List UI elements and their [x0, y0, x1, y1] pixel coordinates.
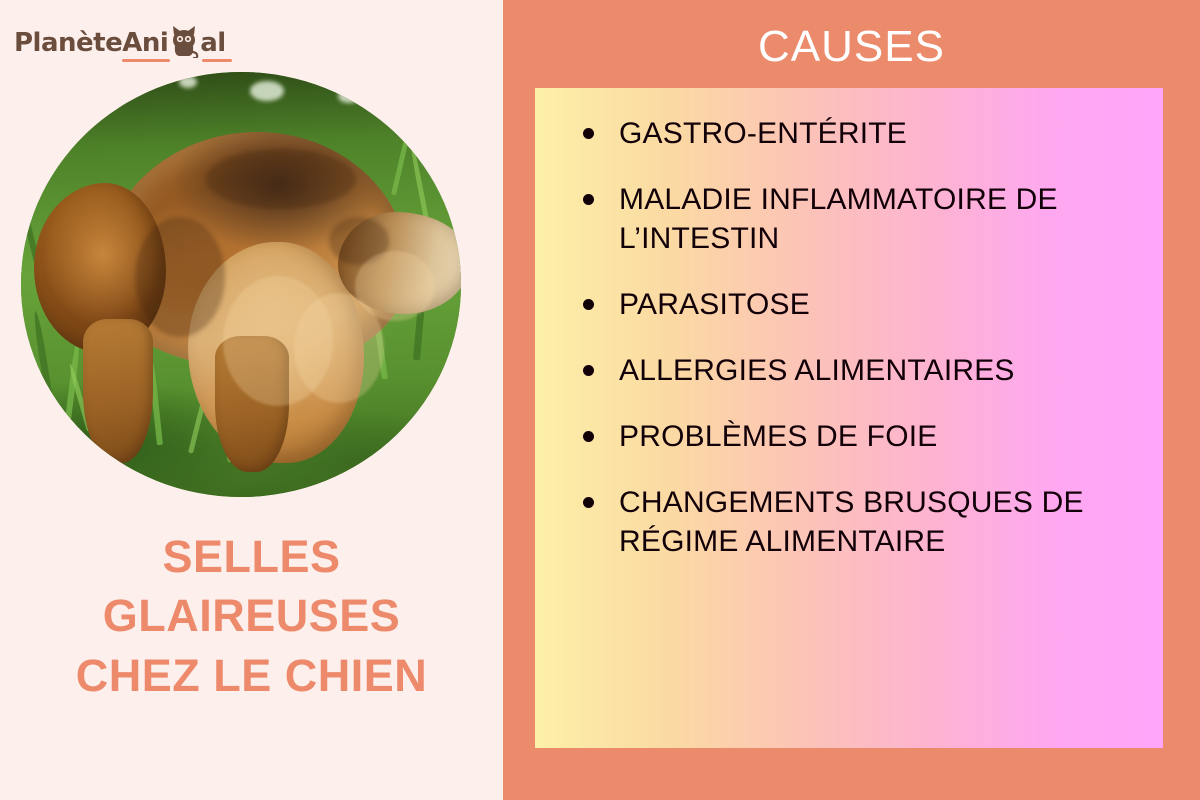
right-panel: CAUSES GASTRO-ENTÉRITEMALADIE INFLAMMATO…: [503, 0, 1200, 800]
cause-label: GASTRO-ENTÉRITE: [619, 117, 907, 150]
left-panel: Planète Ani: [0, 0, 503, 800]
brand-name-ani: Ani: [122, 30, 168, 56]
brand-logo[interactable]: Planète Ani: [14, 16, 226, 56]
infographic-root: Planète Ani: [0, 0, 1200, 800]
bullet-icon: [583, 431, 594, 442]
brand-underline-right: [202, 59, 232, 62]
cause-label: PROBLÈMES DE FOIE: [619, 420, 937, 453]
dog-front-leg-shape: [83, 319, 153, 464]
title-line-2: GLAIREUSES: [0, 586, 503, 645]
title-line-1: SELLES: [0, 527, 503, 586]
cause-item: PARASITOSE: [577, 285, 1147, 324]
cat-icon: [169, 24, 199, 58]
bullet-icon: [583, 299, 594, 310]
cause-label: ALLERGIES ALIMENTAIRES: [619, 354, 1015, 387]
page-title: SELLES GLAIREUSES CHEZ LE CHIEN: [0, 527, 503, 705]
cause-label: PARASITOSE: [619, 288, 810, 321]
cause-item: ALLERGIES ALIMENTAIRES: [577, 351, 1147, 390]
cause-item: PROBLÈMES DE FOIE: [577, 417, 1147, 456]
cause-item: GASTRO-ENTÉRITE: [577, 114, 1147, 153]
bullet-icon: [583, 497, 594, 508]
title-line-3: CHEZ LE CHIEN: [0, 646, 503, 705]
cause-label: MALADIE INFLAMMATOIRE DE L’INTESTIN: [619, 183, 1058, 255]
bullet-icon: [583, 194, 594, 205]
dog-photo: [21, 72, 461, 497]
brand-name-part-one: Planète: [14, 30, 122, 56]
brand-name-al: al: [200, 30, 225, 56]
causes-card: GASTRO-ENTÉRITEMALADIE INFLAMMATOIRE DE …: [535, 88, 1163, 748]
cause-item: CHANGEMENTS BRUSQUES DE RÉGIME ALIMENTAI…: [577, 483, 1147, 561]
causes-list: GASTRO-ENTÉRITEMALADIE INFLAMMATOIRE DE …: [535, 88, 1163, 561]
causes-heading: CAUSES: [503, 22, 1200, 72]
cause-item: MALADIE INFLAMMATOIRE DE L’INTESTIN: [577, 180, 1147, 258]
bullet-icon: [583, 128, 594, 139]
brand-underline-left: [122, 59, 170, 62]
cause-label: CHANGEMENTS BRUSQUES DE RÉGIME ALIMENTAI…: [619, 486, 1084, 558]
brand-name-part-two: Ani al: [122, 24, 226, 56]
bullet-icon: [583, 365, 594, 376]
